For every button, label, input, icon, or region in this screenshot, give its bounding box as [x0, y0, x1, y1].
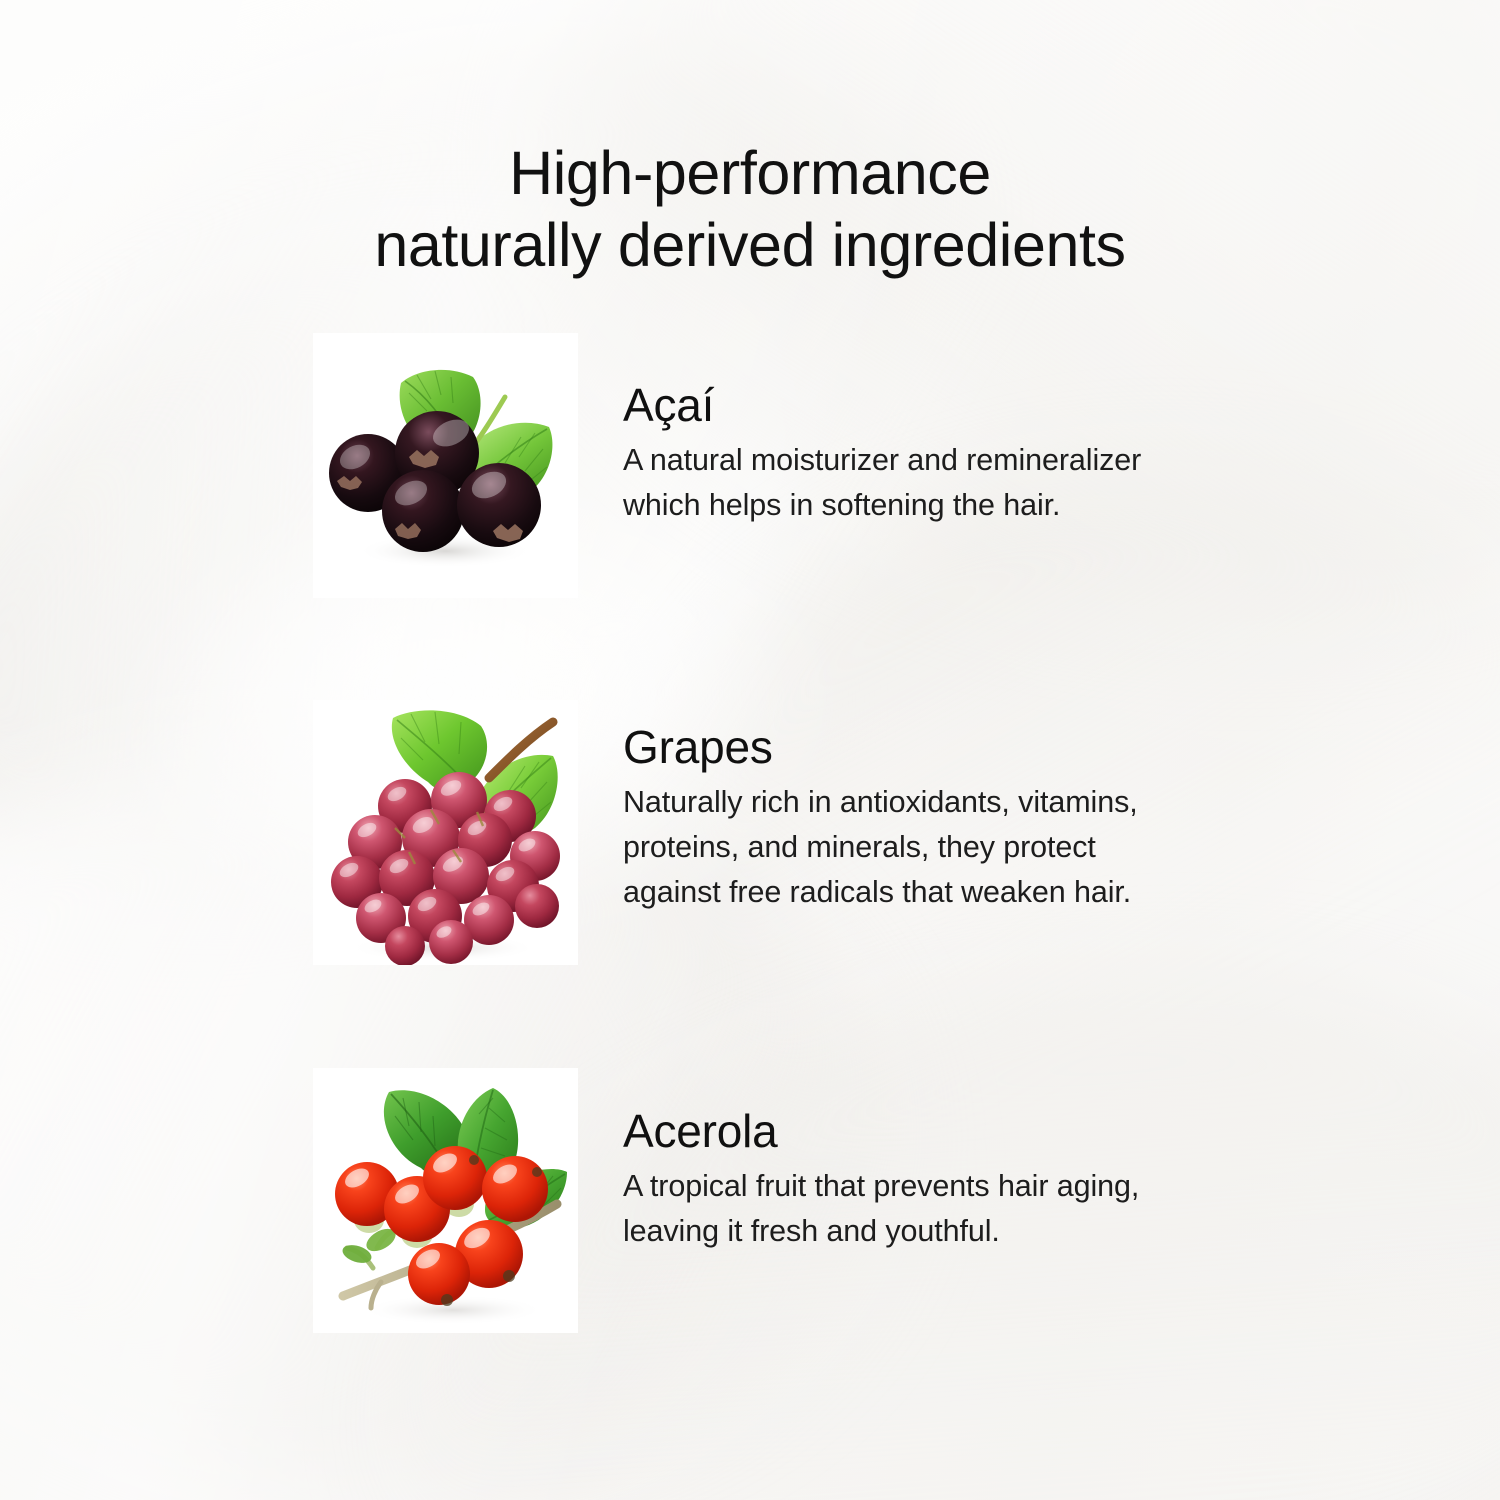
ingredient-title: Grapes — [623, 720, 1323, 774]
ingredient-description: Naturally rich in antioxidants, vitamins… — [623, 780, 1323, 915]
ingredient-title: Acerola — [623, 1104, 1323, 1158]
ingredient-copy: Açaí A natural moisturizer and remineral… — [623, 378, 1323, 528]
ingredient-copy: Grapes Naturally rich in antioxidants, v… — [623, 720, 1323, 915]
acerola-cherries-photo — [313, 1068, 578, 1333]
red-grapes-photo — [313, 700, 578, 965]
page-title: High-performance naturally derived ingre… — [0, 137, 1500, 281]
ingredients-infographic: High-performance naturally derived ingre… — [0, 0, 1500, 1500]
ingredient-description: A tropical fruit that prevents hair agin… — [623, 1164, 1323, 1254]
ingredient-description: A natural moisturizer and remineralizer … — [623, 438, 1323, 528]
acai-berries-photo — [313, 333, 578, 598]
ingredient-copy: Acerola A tropical fruit that prevents h… — [623, 1104, 1323, 1254]
ingredient-title: Açaí — [623, 378, 1323, 432]
